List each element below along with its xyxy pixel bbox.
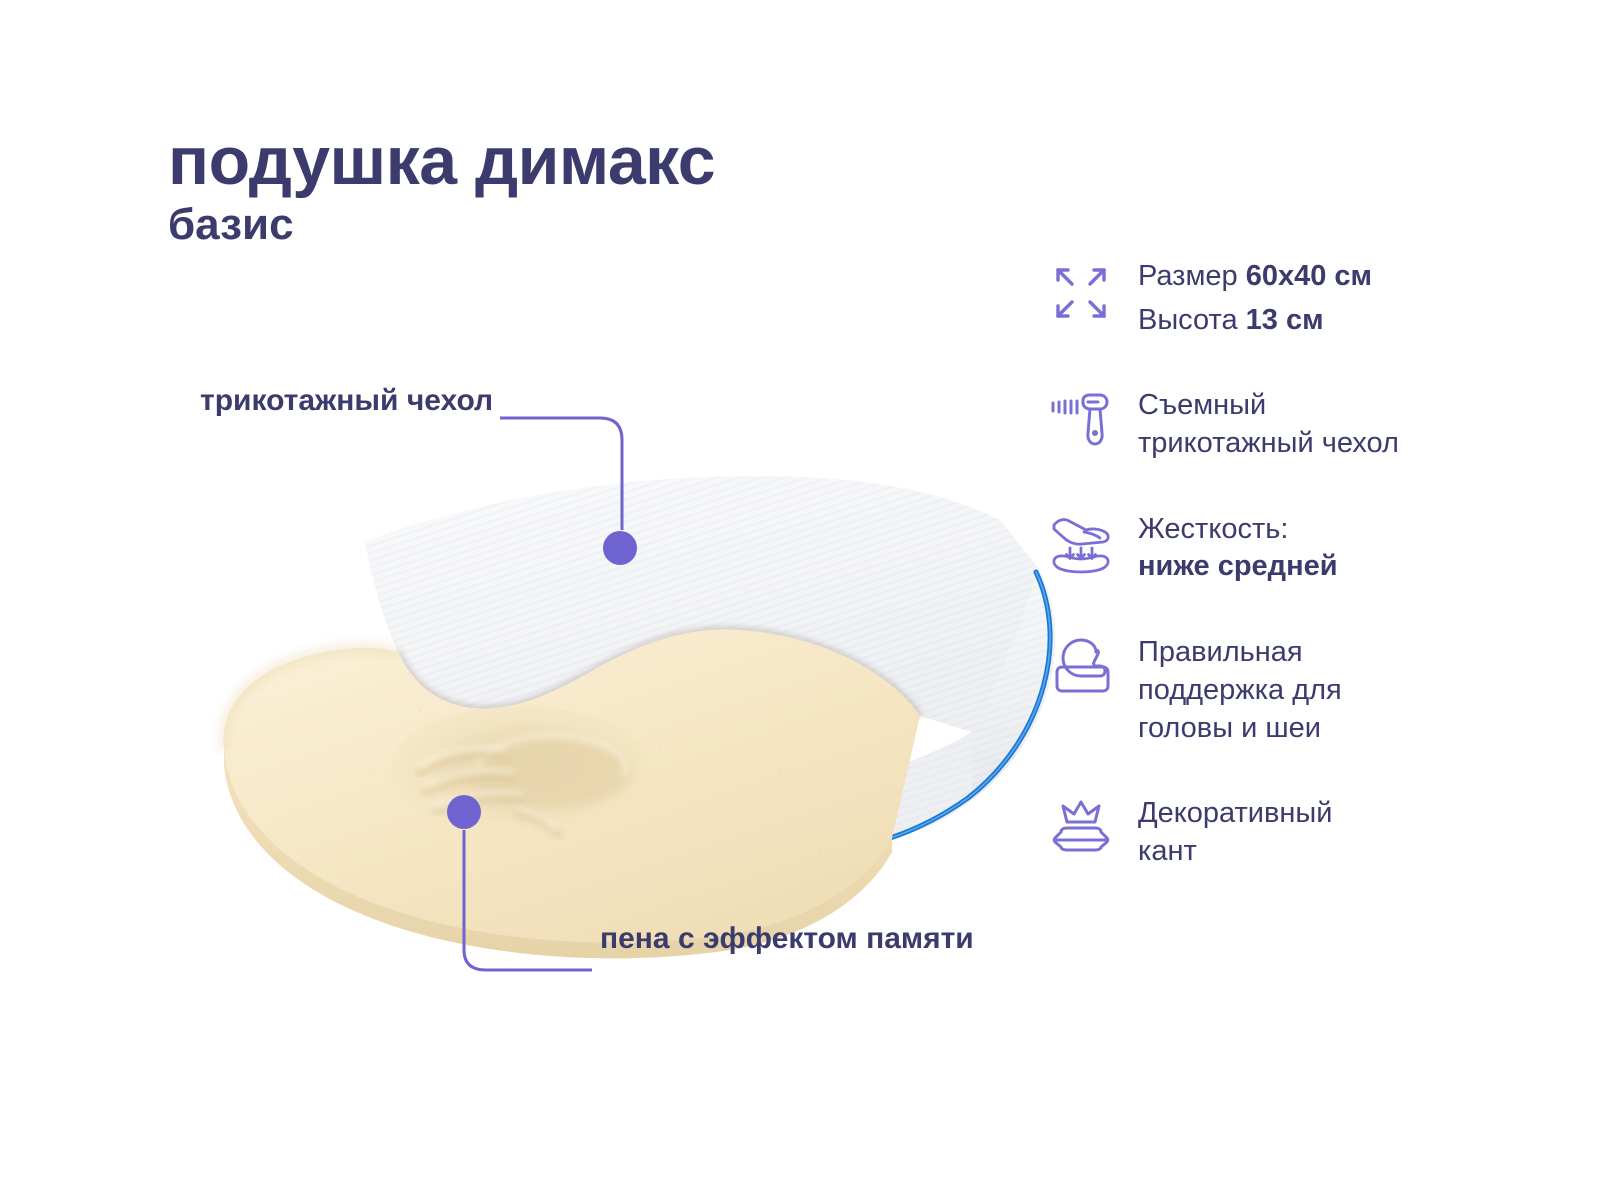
support-line1: Правильная xyxy=(1138,634,1342,672)
removable-cover-line2: трикотажный чехол xyxy=(1138,425,1399,463)
feature-removable-cover: Съемный трикотажный чехол xyxy=(1046,383,1546,462)
dimension-row-size: Размер 60x40 см xyxy=(1138,258,1372,296)
piping-line2: кант xyxy=(1138,833,1332,871)
feature-dimensions: Размер 60x40 см Высота 13 см xyxy=(1046,258,1546,339)
firmness-line1: Жесткость: xyxy=(1138,511,1338,549)
feature-removable-cover-text: Съемный трикотажный чехол xyxy=(1138,383,1399,462)
feature-dimensions-text: Размер 60x40 см Высота 13 см xyxy=(1138,258,1372,339)
dimension-size-value: 60x40 см xyxy=(1246,260,1372,292)
feature-list: Размер 60x40 см Высота 13 см xyxy=(1046,258,1546,915)
feature-support-text: Правильная поддержка для головы и шеи xyxy=(1138,630,1342,747)
firmness-line2: ниже средней xyxy=(1138,550,1338,582)
feature-firmness: Жесткость: ниже средней xyxy=(1046,507,1546,586)
dimension-row-height: Высота 13 см xyxy=(1138,302,1372,340)
removable-cover-line1: Съемный xyxy=(1138,387,1399,425)
dimension-size-label: Размер xyxy=(1138,260,1246,292)
feature-firmness-text: Жесткость: ниже средней xyxy=(1138,507,1338,586)
piping-line1: Декоративный xyxy=(1138,795,1332,833)
dimension-height-label: Высота xyxy=(1138,304,1246,336)
support-line3: головы и шеи xyxy=(1138,710,1342,748)
zipper-icon xyxy=(1046,383,1116,453)
expand-arrows-icon xyxy=(1046,258,1116,328)
page-title: подушка димакс xyxy=(168,128,1068,195)
title-block: подушка димакс базис xyxy=(168,128,1068,247)
callout-label-cover: трикотажный чехол xyxy=(200,382,530,420)
head-on-pillow-icon xyxy=(1046,630,1116,700)
pillow-illustration xyxy=(120,420,1080,980)
page-subtitle: базис xyxy=(168,203,1068,247)
product-infographic: подушка димакс базис xyxy=(0,0,1600,1200)
dimension-height-value: 13 см xyxy=(1246,304,1324,336)
feature-decorative-piping-text: Декоративный кант xyxy=(1138,791,1332,870)
hand-press-pillow-icon xyxy=(1046,507,1116,577)
crown-pillow-icon xyxy=(1046,791,1116,861)
feature-decorative-piping: Декоративный кант xyxy=(1046,791,1546,870)
feature-support: Правильная поддержка для головы и шеи xyxy=(1046,630,1546,747)
support-line2: поддержка для xyxy=(1138,672,1342,710)
callout-label-foam: пена с эффектом памяти xyxy=(600,920,1000,958)
